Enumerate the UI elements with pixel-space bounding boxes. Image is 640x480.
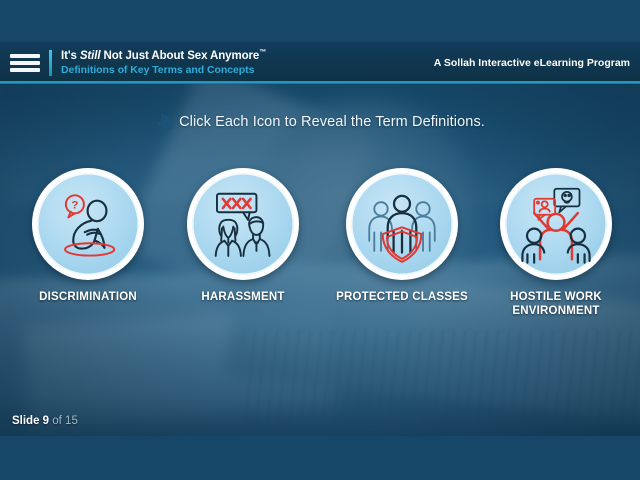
pointing-hand-icon — [155, 112, 172, 131]
three-people-shield-icon — [360, 182, 444, 266]
program-attribution: A Sollah Interactive eLearning Program — [434, 57, 630, 69]
term-label-hostile-work-environment: HOSTILE WORKENVIRONMENT — [476, 290, 636, 319]
slide-counter: Slide 9 of 15 — [12, 415, 78, 427]
seated-person-question-icon: ? — [47, 183, 129, 265]
app-header: It's Still Not Just About Sex Anymore™ D… — [0, 42, 640, 84]
raised-arms-person-bubbles-icon — [514, 182, 598, 266]
svg-text:?: ? — [71, 199, 78, 211]
term-label-harassment: HARASSMENT — [163, 290, 323, 304]
title-suffix: Not Just About Sex Anymore — [100, 50, 259, 62]
term-harassment[interactable]: HARASSMENT — [163, 168, 323, 304]
term-circle-discrimination[interactable]: ? — [32, 168, 144, 280]
page-title: It's Still Not Just About Sex Anymore™ — [61, 49, 266, 63]
term-label-discrimination: DISCRIMINATION — [8, 290, 168, 304]
term-circle-protected-classes[interactable] — [346, 168, 458, 280]
term-label-protected-classes: PROTECTED CLASSES — [322, 290, 482, 304]
slide-counter-current: Slide 9 — [12, 415, 49, 427]
instruction-row: Click Each Icon to Reveal the Term Defin… — [0, 112, 640, 131]
header-divider — [49, 50, 52, 76]
term-protected-classes[interactable]: PROTECTED CLASSES — [322, 168, 482, 304]
term-discrimination[interactable]: ? DISCRIMINATION — [8, 168, 168, 304]
hamburger-menu-icon[interactable] — [10, 54, 40, 72]
hwe-line-1: HOSTILE WORK — [510, 291, 602, 303]
term-icon-row: ? DISCRIMINATION — [0, 168, 640, 348]
term-hostile-work-environment[interactable]: HOSTILE WORKENVIRONMENT — [476, 168, 636, 319]
bottom-letterbox-band — [0, 436, 640, 480]
hwe-line-2: ENVIRONMENT — [512, 305, 599, 317]
trademark-symbol: ™ — [259, 49, 266, 56]
header-titles: It's Still Not Just About Sex Anymore™ D… — [61, 49, 266, 76]
slide-stage: It's Still Not Just About Sex Anymore™ D… — [0, 0, 640, 480]
slide-counter-total: of 15 — [49, 415, 78, 427]
two-people-xxx-bubble-icon — [201, 182, 285, 266]
page-subtitle: Definitions of Key Terms and Concepts — [61, 64, 266, 76]
term-circle-hostile-work-environment[interactable] — [500, 168, 612, 280]
title-prefix: It's — [61, 50, 80, 62]
instruction-text: Click Each Icon to Reveal the Term Defin… — [179, 114, 485, 130]
title-italic-word: Still — [80, 50, 101, 62]
top-letterbox-band — [0, 0, 640, 42]
term-circle-harassment[interactable] — [187, 168, 299, 280]
